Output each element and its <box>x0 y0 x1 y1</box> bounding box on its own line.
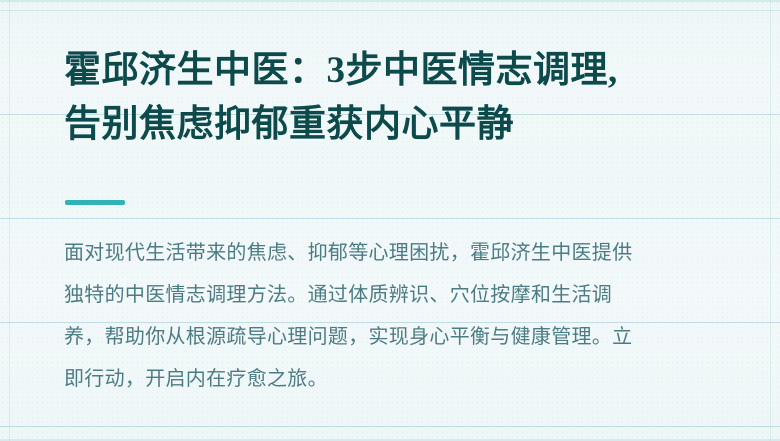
article-summary-line-4: 即行动，开启内在疗愈之旅。 <box>64 358 736 400</box>
page-title-line-1: 霍邱济生中医：3步中医情志调理, <box>64 44 724 98</box>
article-summary-line-3: 养，帮助你从根源疏导心理问题，实现身心平衡与健康管理。立 <box>64 316 736 358</box>
page-title-line-2: 告别焦虑抑郁重获内心平静 <box>64 98 724 152</box>
accent-divider <box>65 200 125 205</box>
article-summary-line-2: 独特的中医情志调理方法。通过体质辨识、穴位按摩和生活调 <box>64 274 736 316</box>
article-summary: 面对现代生活带来的焦虑、抑郁等心理困扰，霍邱济生中医提供 独特的中医情志调理方法… <box>64 232 736 400</box>
article-hero-card: 霍邱济生中医：3步中医情志调理, 告别焦虑抑郁重获内心平静 面对现代生活带来的焦… <box>0 0 780 441</box>
article-summary-line-1: 面对现代生活带来的焦虑、抑郁等心理困扰，霍邱济生中医提供 <box>64 232 736 274</box>
content-column: 霍邱济生中医：3步中医情志调理, 告别焦虑抑郁重获内心平静 面对现代生活带来的焦… <box>64 0 732 441</box>
page-title: 霍邱济生中医：3步中医情志调理, 告别焦虑抑郁重获内心平静 <box>64 44 724 152</box>
background-right-rule <box>770 0 771 441</box>
background-left-rule <box>9 0 10 441</box>
